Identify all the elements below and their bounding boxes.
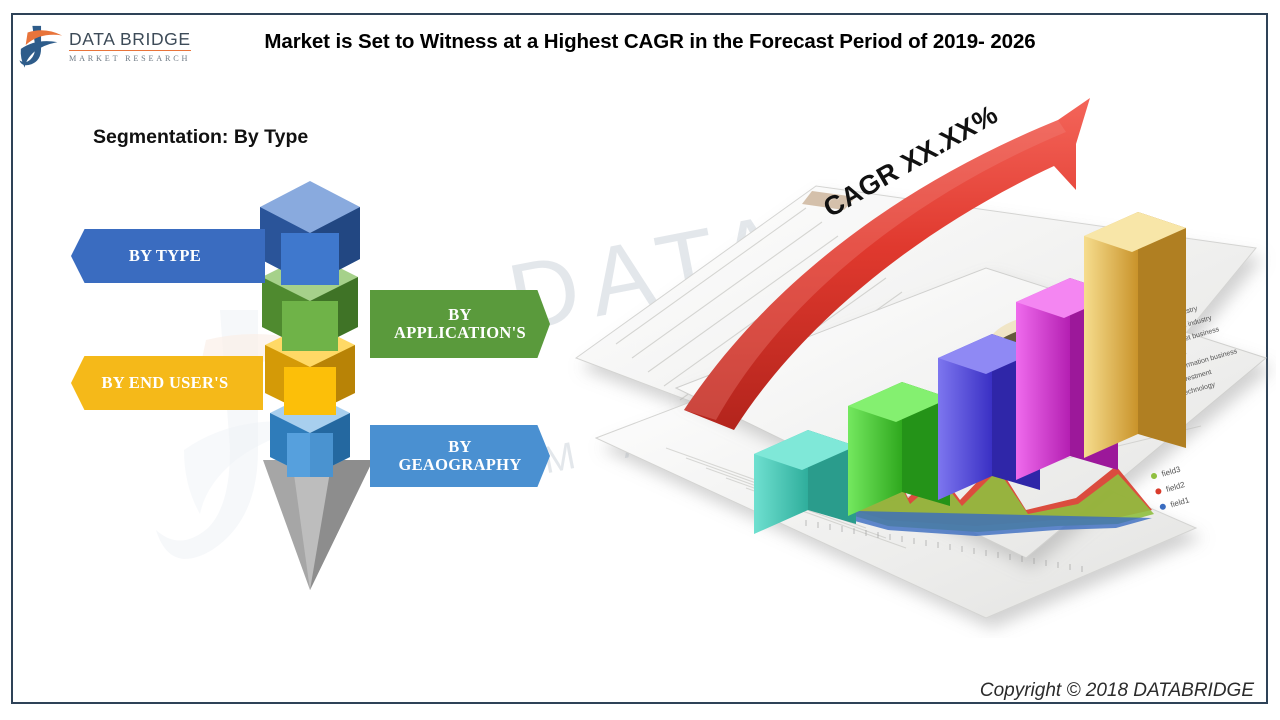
segment-banner-by-end-users-label: BY END USER'S [101,374,228,392]
segment-banner-by-applications[interactable]: BYAPPLICATION'S [370,290,550,358]
segment-banner-by-geography[interactable]: BYGEAOGRAPHY [370,425,550,487]
pencil-band-type [260,181,360,285]
area-chart-legend: field3 field2 field1 [1150,465,1191,513]
segment-banner-by-type[interactable]: BY TYPE [71,229,265,283]
segmentation-heading: Segmentation: By Type [93,126,308,149]
logo-wordmark: DATA BRIDGE MARKET RESEARCH [69,30,191,63]
logo-subtitle: MARKET RESEARCH [69,54,191,63]
svg-text:field3: field3 [1161,465,1182,479]
svg-text:field2: field2 [1165,480,1186,494]
svg-text:field1: field1 [1169,495,1190,509]
databridge-logo: DATA BRIDGE MARKET RESEARCH [18,20,193,72]
slide-canvas: DATA M A R K E T DATA BRIDGE MARKET RESE… [0,0,1280,720]
page-title: Market is Set to Witness at a Highest CA… [240,30,1060,54]
segment-banner-by-geography-label: BYGEAOGRAPHY [398,438,521,474]
segment-banner-by-end-users[interactable]: BY END USER'S [71,356,263,410]
pencil-tip [263,460,373,590]
copyright-notice: Copyright © 2018 DATABRIDGE [980,680,1254,702]
segment-banner-by-type-label: BY TYPE [129,247,201,265]
segment-banner-by-applications-label: BYAPPLICATION'S [394,306,526,342]
databridge-logo-icon [18,22,66,70]
logo-title: DATA BRIDGE [69,30,191,51]
bar-3d-5 [1084,212,1186,458]
